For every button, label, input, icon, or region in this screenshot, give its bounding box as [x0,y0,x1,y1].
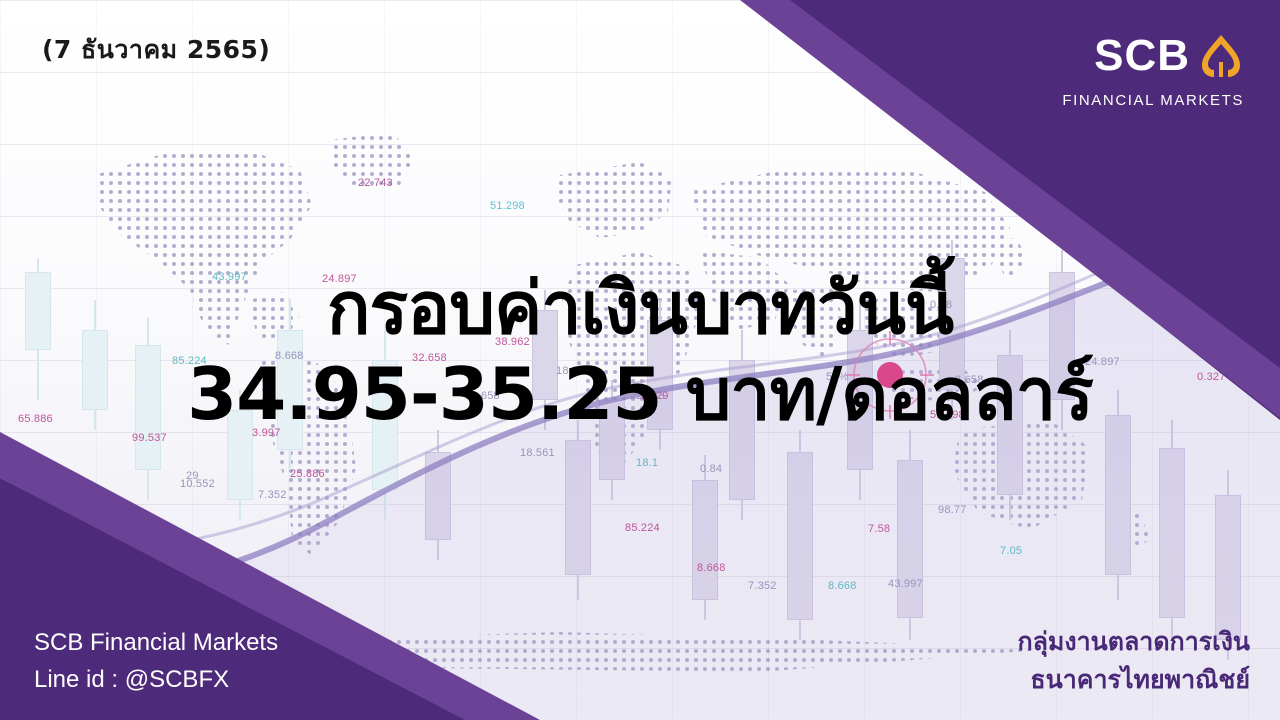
footer-org-name: SCB Financial Markets [34,624,278,661]
footer-department: กลุ่มงานตลาดการเงิน ธนาคารไทยพาณิชย์ [1017,623,1250,698]
headline-line-1: กรอบค่าเงินบาทวันนี้ [0,272,1280,344]
scb-bodhi-leaf-icon [1198,32,1244,80]
footer-contact: SCB Financial Markets Line id : @SCBFX [34,624,278,698]
footer-department-line-2: ธนาคารไทยพาณิชย์ [1017,661,1250,699]
page-date: (7 ธันวาคม 2565) [42,30,270,70]
footer-department-line-1: กลุ่มงานตลาดการเงิน [1017,623,1250,661]
scb-logo-subtitle: FINANCIAL MARKETS [1062,92,1244,109]
scb-wordmark: SCB [1094,34,1190,78]
scb-logo: SCB FINANCIAL MARKETS [1062,32,1244,109]
poster-canvas: 43.99724.89722.74351.29838.96285.2248.66… [0,0,1280,720]
headline-line-2: 34.95-35.25 บาท/ดอลลาร์ [0,358,1280,430]
footer-line-id: Line id : @SCBFX [34,661,278,698]
headline-block: กรอบค่าเงินบาทวันนี้ 34.95-35.25 บาท/ดอล… [0,272,1280,430]
